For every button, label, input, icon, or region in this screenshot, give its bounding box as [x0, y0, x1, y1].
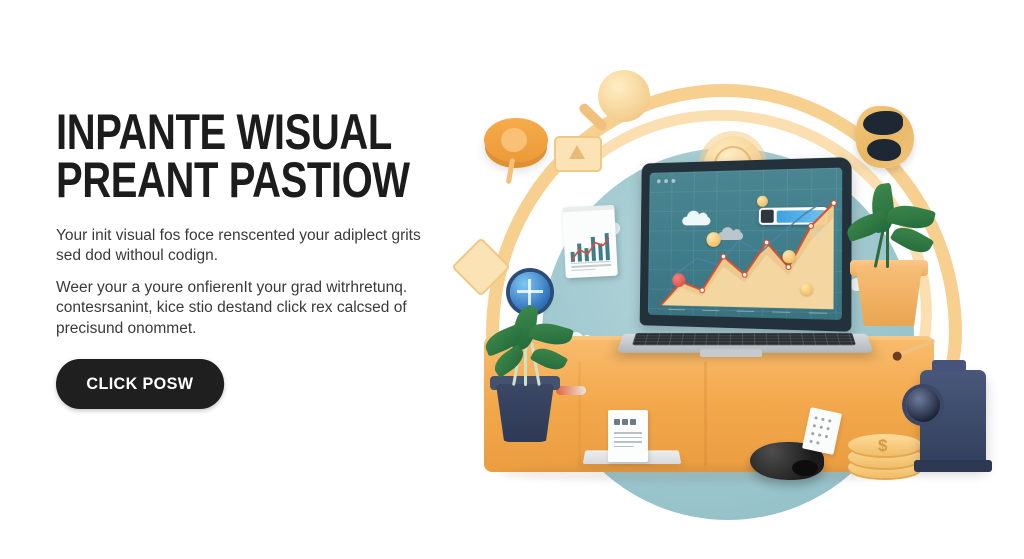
document-text-lines — [614, 432, 642, 450]
usb-drive — [556, 386, 586, 395]
screen-data-label: 01n — [811, 232, 823, 238]
desk-seam — [704, 362, 707, 466]
page-title: INPANTE WISUAL PREANT PASTIOW — [56, 108, 360, 204]
laptop-trackpad[interactable] — [700, 349, 763, 357]
document-header-marks — [614, 419, 636, 425]
screen-alert-dot — [672, 273, 685, 287]
camera-base — [914, 460, 992, 472]
bean-badge-icon — [856, 106, 914, 168]
headline-line-2: PREANT PASTIOW — [56, 156, 360, 204]
hero-section: INPANTE WISUAL PREANT PASTIOW Your init … — [0, 0, 1024, 559]
globe-stand — [506, 158, 515, 184]
desk-seam — [578, 362, 581, 466]
coin-stack: $ — [848, 434, 922, 480]
globe-coin-icon — [484, 118, 548, 162]
plant-navy-pot — [496, 384, 554, 442]
camera — [920, 370, 986, 466]
cta-container: CLICK POSW — [56, 359, 436, 409]
hero-paragraph-1: Your init visual fos foce renscented you… — [56, 226, 428, 266]
screen-coin-icon — [801, 283, 813, 296]
currency-symbol: $ — [878, 436, 887, 456]
screen-coin-icon — [782, 250, 795, 263]
hero-paragraph-2: Weer your a youre onfierenIt your grad w… — [56, 278, 428, 338]
camera-top — [932, 360, 966, 372]
hero-copy: INPANTE WISUAL PREANT PASTIOW Your init … — [56, 108, 436, 409]
tag-warning-icon — [554, 136, 602, 172]
camera-lens — [906, 388, 940, 422]
plant-terracotta-pot — [856, 268, 922, 326]
laptop-screen[interactable]: 01n — [648, 168, 842, 320]
screen-chart — [648, 168, 842, 320]
document-sheet — [608, 410, 648, 462]
hero-illustration: 01n — [468, 40, 1016, 540]
laptop-keyboard[interactable] — [632, 333, 856, 345]
hero-description: Your init visual fos foce renscented you… — [56, 226, 428, 339]
report-card-icon — [562, 205, 618, 279]
screen-coin-icon — [706, 232, 720, 247]
report-text-lines — [571, 260, 611, 273]
magnifier-icon — [598, 70, 650, 122]
laptop-screen-lid: 01n — [640, 157, 852, 332]
click-now-button[interactable]: CLICK POSW — [56, 359, 224, 409]
